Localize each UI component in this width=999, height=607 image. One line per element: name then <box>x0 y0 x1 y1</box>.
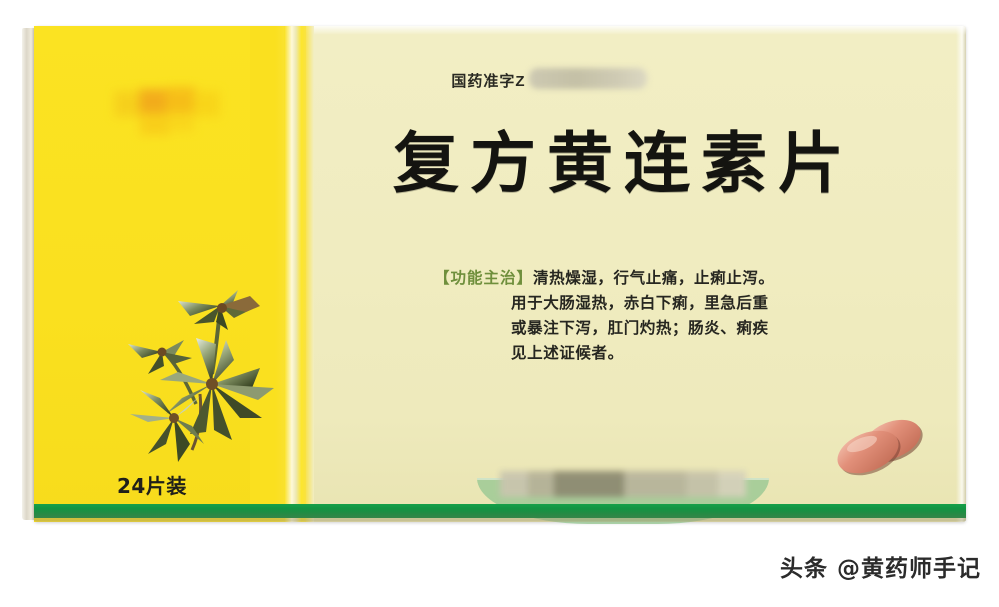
tablet-illustration <box>828 414 940 486</box>
watermark-platform: 头条 <box>780 556 828 582</box>
medicine-box: 24片装 国药准字Z 复方黄连素片 【功能主治】清热燥湿，行气止痛，止痢止泻。 … <box>22 26 966 522</box>
image-canvas: 24片装 国药准字Z 复方黄连素片 【功能主治】清热燥湿，行气止痛，止痢止泻。 … <box>0 0 999 607</box>
manufacturer-name-redacted <box>500 471 746 497</box>
approval-number-redaction <box>529 68 647 89</box>
pack-size-label: 24片装 <box>117 470 187 499</box>
herb-plant-illustration <box>100 254 315 469</box>
panel-bottom-shade <box>34 508 966 522</box>
approval-number-prefix: 国药准字Z <box>451 73 525 90</box>
watermark: 头条 @黄药师手记 <box>780 549 981 583</box>
watermark-handle: @黄药师手记 <box>837 556 981 582</box>
indications-label: 【功能主治】 <box>434 269 533 287</box>
indications-line-2: 用于大肠湿热，赤白下痢，里急后重 <box>434 291 894 316</box>
indications-line-1: 清热燥湿，行气止痛，止痢止泻。 <box>533 269 775 287</box>
approval-number: 国药准字Z <box>22 68 966 91</box>
product-title: 复方黄连素片 <box>314 130 934 196</box>
indications-line-4: 见上述证候者。 <box>434 341 894 366</box>
indications-block: 【功能主治】清热燥湿，行气止痛，止痢止泻。 用于大肠湿热，赤白下痢，里急后重 或… <box>434 266 894 366</box>
indications-line-3: 或暴注下泻，肛门灼热；肠炎、痢疾 <box>434 316 894 341</box>
